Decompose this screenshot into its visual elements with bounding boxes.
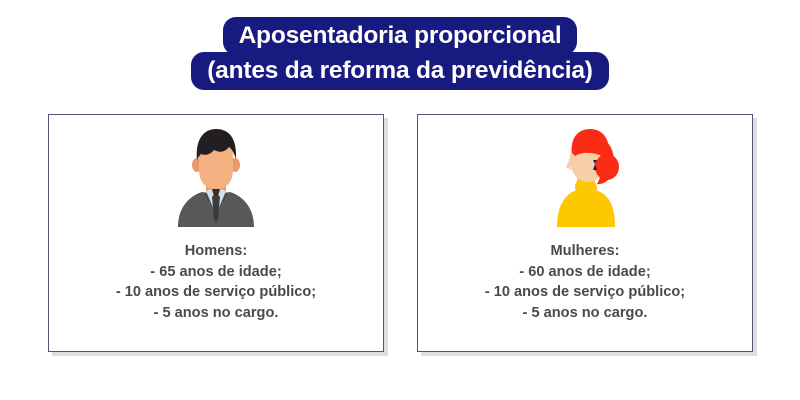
card-homens-line-1: - 65 anos de idade; (116, 262, 316, 283)
card-mulheres-line-2: - 10 anos de serviço público; (485, 282, 685, 303)
man-avatar-icon (168, 127, 264, 227)
card-mulheres-heading: Mulheres: (485, 241, 685, 262)
card-homens-heading: Homens: (116, 241, 316, 262)
banner-title-line-2: (antes da reforma da previdência) (191, 52, 609, 90)
card-mulheres-text: Mulheres: - 60 anos de idade; - 10 anos … (485, 241, 685, 323)
card-homens-text: Homens: - 65 anos de idade; - 10 anos de… (116, 241, 316, 323)
banner-title-line-1: Aposentadoria proporcional (223, 17, 578, 55)
title-banner: Aposentadoria proporcional (antes da ref… (0, 0, 800, 104)
woman-avatar-icon (537, 127, 633, 227)
cards-row: Homens: - 65 anos de idade; - 10 anos de… (48, 114, 753, 358)
man-avatar-wrap (168, 123, 264, 227)
card-mulheres: Mulheres: - 60 anos de idade; - 10 anos … (417, 114, 753, 352)
woman-avatar-wrap (537, 123, 633, 227)
card-homens: Homens: - 65 anos de idade; - 10 anos de… (48, 114, 384, 352)
card-homens-line-2: - 10 anos de serviço público; (116, 282, 316, 303)
card-mulheres-line-3: - 5 anos no cargo. (485, 303, 685, 324)
card-mulheres-line-1: - 60 anos de idade; (485, 262, 685, 283)
card-homens-line-3: - 5 anos no cargo. (116, 303, 316, 324)
